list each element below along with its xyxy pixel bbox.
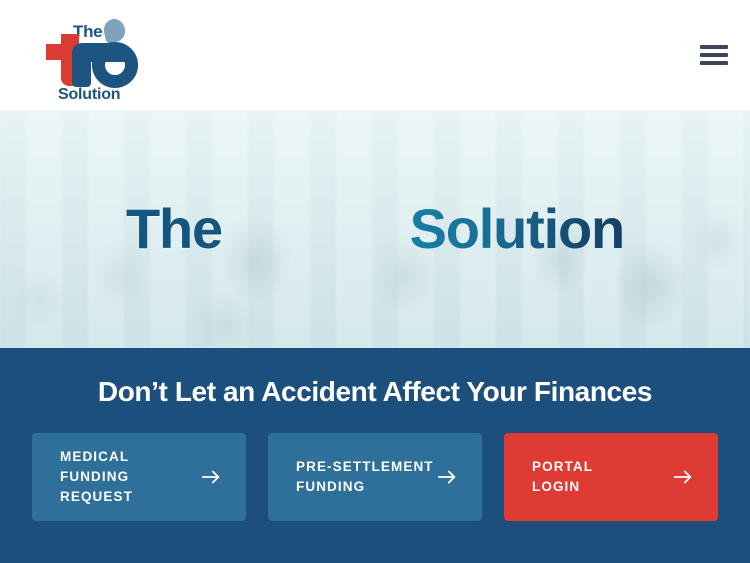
hero-word-solution: Solution bbox=[410, 201, 624, 257]
arrow-right-icon bbox=[436, 466, 458, 488]
cta-button-label: PRE-SETTLEMENT FUNDING bbox=[296, 457, 434, 496]
arrow-right-icon bbox=[200, 466, 222, 488]
hero-headline: The Solution bbox=[0, 110, 750, 348]
site-header: The Solution bbox=[0, 0, 750, 110]
hero-word-the: The bbox=[126, 201, 222, 257]
logo-letter-o bbox=[92, 42, 138, 88]
cta-button-group: MEDICAL FUNDING REQUEST PRE-SETTLEMENT F… bbox=[32, 433, 718, 521]
hamburger-menu-icon[interactable] bbox=[700, 44, 728, 66]
hamburger-bar-1 bbox=[700, 45, 728, 49]
cta-button-label: PORTAL LOGIN bbox=[532, 457, 593, 496]
hamburger-bar-3 bbox=[700, 61, 728, 65]
arrow-right-icon bbox=[672, 466, 694, 488]
pre-settlement-funding-button[interactable]: PRE-SETTLEMENT FUNDING bbox=[268, 433, 482, 521]
medical-funding-request-button[interactable]: MEDICAL FUNDING REQUEST bbox=[32, 433, 246, 521]
hamburger-bar-2 bbox=[700, 53, 728, 57]
logo-dot-icon bbox=[102, 17, 127, 44]
hero-banner: The Solution bbox=[0, 110, 750, 348]
logo-letter-r-stem bbox=[72, 51, 91, 87]
cta-heading: Don’t Let an Accident Affect Your Financ… bbox=[32, 377, 718, 408]
page-root: The Solution The Solution Don’t Let an A… bbox=[0, 0, 750, 563]
site-logo[interactable]: The Solution bbox=[30, 9, 160, 101]
cta-section: Don’t Let an Accident Affect Your Financ… bbox=[0, 348, 750, 563]
logo-solution-text: Solution bbox=[58, 87, 120, 103]
cta-button-label: MEDICAL FUNDING REQUEST bbox=[60, 447, 133, 506]
portal-login-button[interactable]: PORTAL LOGIN bbox=[504, 433, 718, 521]
